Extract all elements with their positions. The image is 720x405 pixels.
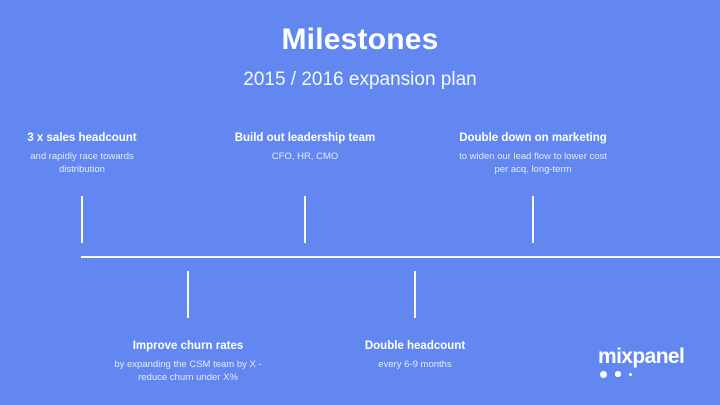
milestone-subtitle: and rapidly race towards distribution xyxy=(0,151,182,176)
timeline-connector-above-3 xyxy=(532,196,534,243)
timeline-connector-below-2 xyxy=(414,271,416,318)
timeline-connector-above-2 xyxy=(304,196,306,243)
milestone-title: Double down on marketing xyxy=(433,131,633,146)
milestone-subtitle: every 6-9 months xyxy=(315,359,515,372)
milestone-title: Double headcount xyxy=(315,339,515,354)
mixpanel-logo: mixpanel xyxy=(598,346,694,382)
slide-canvas: Milestones 2015 / 2016 expansion plan 3 … xyxy=(0,0,720,405)
milestone-above-3: Double down on marketing to widen our le… xyxy=(433,131,633,176)
page-title: Milestones xyxy=(0,21,720,59)
milestone-title: Improve churn rates xyxy=(88,339,288,354)
milestone-subtitle: CFO, HR, CMO xyxy=(205,151,405,164)
milestone-title: Build out leadership team xyxy=(205,131,405,146)
mixpanel-wordmark: mixpanel xyxy=(598,346,694,368)
page-subtitle: 2015 / 2016 expansion plan xyxy=(0,68,720,92)
mixpanel-dots-icon xyxy=(598,369,694,379)
milestone-below-1: Improve churn rates by expanding the CSM… xyxy=(88,339,288,384)
timeline-connector-above-1 xyxy=(81,196,83,243)
milestone-below-2: Double headcount every 6-9 months xyxy=(315,339,515,372)
milestone-subtitle: to widen our lead flow to lower cost per… xyxy=(433,151,633,176)
milestone-title: 3 x sales headcount xyxy=(0,131,182,146)
timeline-axis xyxy=(81,256,720,258)
timeline-connector-below-1 xyxy=(187,271,189,318)
milestone-above-2: Build out leadership team CFO, HR, CMO xyxy=(205,131,405,164)
milestone-above-1: 3 x sales headcount and rapidly race tow… xyxy=(0,131,182,176)
milestone-subtitle: by expanding the CSM team by X - reduce … xyxy=(88,359,288,384)
